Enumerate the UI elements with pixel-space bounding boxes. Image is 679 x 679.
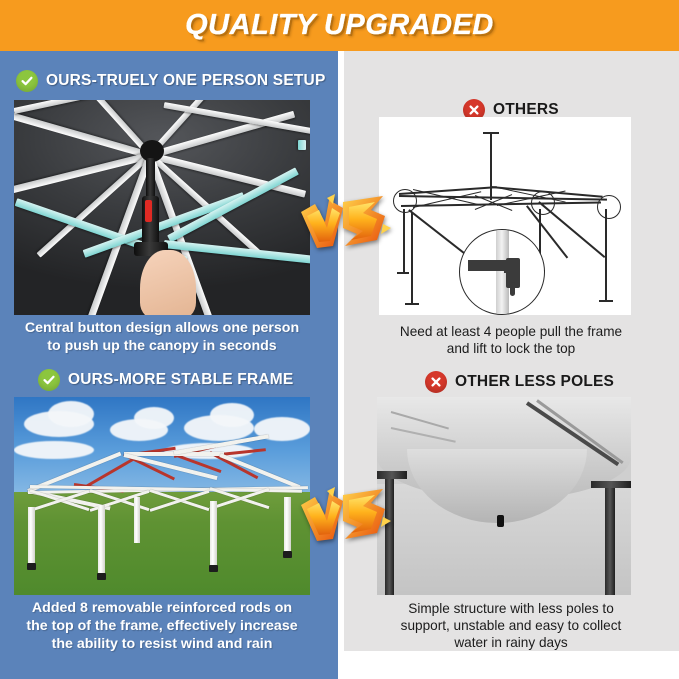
check-circle-icon (16, 70, 38, 92)
callout-circle-right (597, 195, 621, 219)
ours-frame-heading: OURS-MORE STABLE FRAME (38, 369, 293, 391)
ours-setup-heading-label: OURS-TRUELY ONE PERSON SETUP (46, 72, 325, 90)
callout-circle-left (393, 189, 417, 213)
hand (140, 250, 196, 315)
check-circle-icon (38, 369, 60, 391)
header-banner: QUALITY UPGRADED (0, 0, 679, 51)
ours-setup-image (14, 100, 310, 315)
red-push-button (145, 200, 152, 222)
others-caption: Need at least 4 people pull the frame an… (350, 323, 672, 357)
callout-circle-mid (531, 191, 555, 215)
other-less-poles-image (377, 397, 631, 595)
other-less-poles-heading-label: OTHER LESS POLES (455, 373, 614, 391)
ours-frame-image (14, 397, 310, 595)
ours-setup-heading: OURS-TRUELY ONE PERSON SETUP (16, 70, 325, 92)
vs-badge-top (299, 194, 391, 254)
vs-badge-bottom (299, 487, 391, 547)
lock-detail-magnifier (459, 229, 545, 315)
ours-frame-heading-label: OURS-MORE STABLE FRAME (68, 371, 293, 389)
other-less-poles-caption: Simple structure with less poles to supp… (350, 600, 672, 651)
others-frame-diagram (379, 117, 631, 315)
page-title: QUALITY UPGRADED (0, 0, 679, 51)
infographic-page: QUALITY UPGRADED OURS-TRUELY ONE PERSON … (0, 0, 679, 679)
frame-post-right (605, 483, 615, 595)
other-less-poles-heading: OTHER LESS POLES (425, 371, 614, 393)
cross-circle-icon (425, 371, 447, 393)
ours-setup-caption: Central button design allows one person … (14, 320, 310, 356)
ceiling-tag (497, 515, 504, 527)
ours-frame-caption: Added 8 removable reinforced rods on the… (12, 600, 312, 654)
